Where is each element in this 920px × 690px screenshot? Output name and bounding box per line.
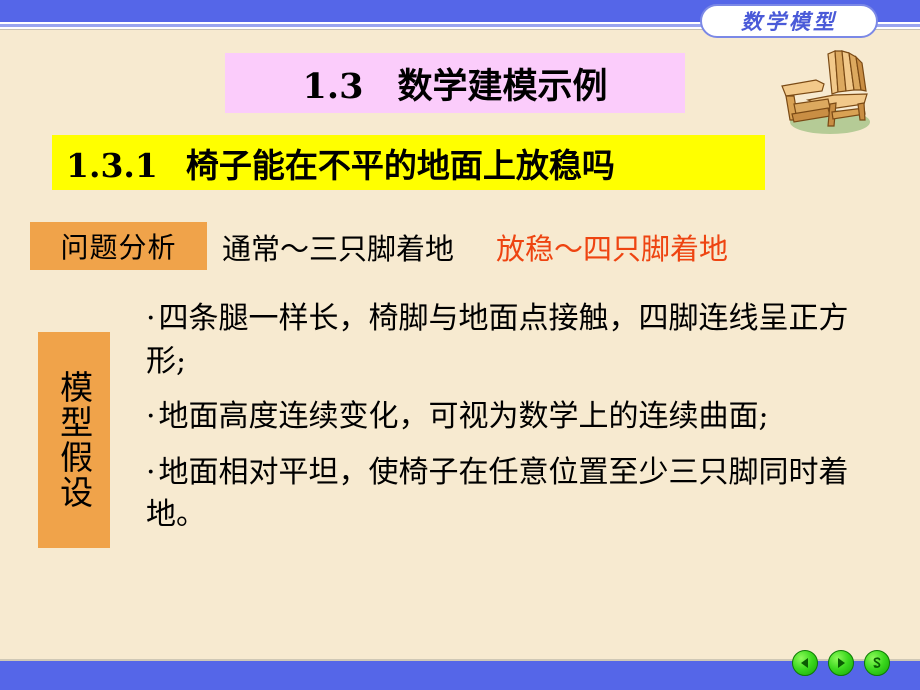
section-title-number: 1.3	[303, 66, 364, 107]
problem-analysis-tag: 问题分析	[30, 222, 207, 270]
course-logo-label: 数学模型	[741, 6, 837, 36]
subsection-title-text: 椅子能在不平的地面上放稳吗	[186, 146, 615, 185]
model-assumptions-list: ·四条腿一样长，椅脚与地面点接触，四脚连线呈正方形; ·地面高度连续变化，可视为…	[146, 298, 876, 550]
problem-analysis-accent-text: 放稳～四只脚着地	[496, 226, 728, 268]
subsection-title-box: 1.3.1椅子能在不平的地面上放稳吗	[52, 135, 765, 190]
triangle-right-icon	[834, 656, 848, 670]
problem-analysis-tag-label: 问题分析	[60, 226, 176, 266]
model-assumptions-tag-label: 模型假设	[48, 370, 99, 510]
return-arrow-icon	[870, 656, 884, 670]
list-item: ·地面相对平坦，使椅子在任意位置至少三只脚同时着地。	[146, 452, 876, 537]
section-title-text: 数学建模示例	[397, 66, 607, 107]
return-slide-button[interactable]	[864, 650, 890, 676]
list-item-text: 地面高度连续变化，可视为数学上的连续曲面;	[159, 399, 769, 434]
slide-navigation	[792, 650, 890, 676]
problem-analysis-normal-text: 通常～三只脚着地	[222, 226, 454, 268]
bottom-banner-band	[0, 661, 920, 690]
section-title: 1.3数学建模示例	[303, 58, 608, 109]
section-title-box: 1.3数学建模示例	[225, 53, 685, 113]
bullet-dot-icon: ·	[146, 396, 156, 439]
list-item: ·四条腿一样长，椅脚与地面点接触，四脚连线呈正方形;	[146, 298, 876, 383]
problem-analysis-row: 通常～三只脚着地 放稳～四只脚着地	[222, 224, 902, 270]
bullet-dot-icon: ·	[146, 298, 156, 341]
subsection-title: 1.3.1椅子能在不平的地面上放稳吗	[66, 139, 615, 187]
next-slide-button[interactable]	[828, 650, 854, 676]
subsection-title-number: 1.3.1	[66, 146, 158, 185]
course-logo-badge: 数学模型	[700, 4, 878, 38]
list-item-text: 地面相对平坦，使椅子在任意位置至少三只脚同时着地。	[146, 455, 849, 533]
presentation-slide: 数学模型	[0, 0, 920, 690]
triangle-left-icon	[798, 656, 812, 670]
model-assumptions-tag: 模型假设	[38, 332, 110, 548]
bullet-dot-icon: ·	[146, 452, 156, 495]
list-item-text: 四条腿一样长，椅脚与地面点接触，四脚连线呈正方形;	[146, 301, 849, 379]
deck-chair-image	[772, 42, 876, 142]
deck-chair-icon	[772, 42, 876, 138]
list-item: ·地面高度连续变化，可视为数学上的连续曲面;	[146, 396, 876, 439]
previous-slide-button[interactable]	[792, 650, 818, 676]
